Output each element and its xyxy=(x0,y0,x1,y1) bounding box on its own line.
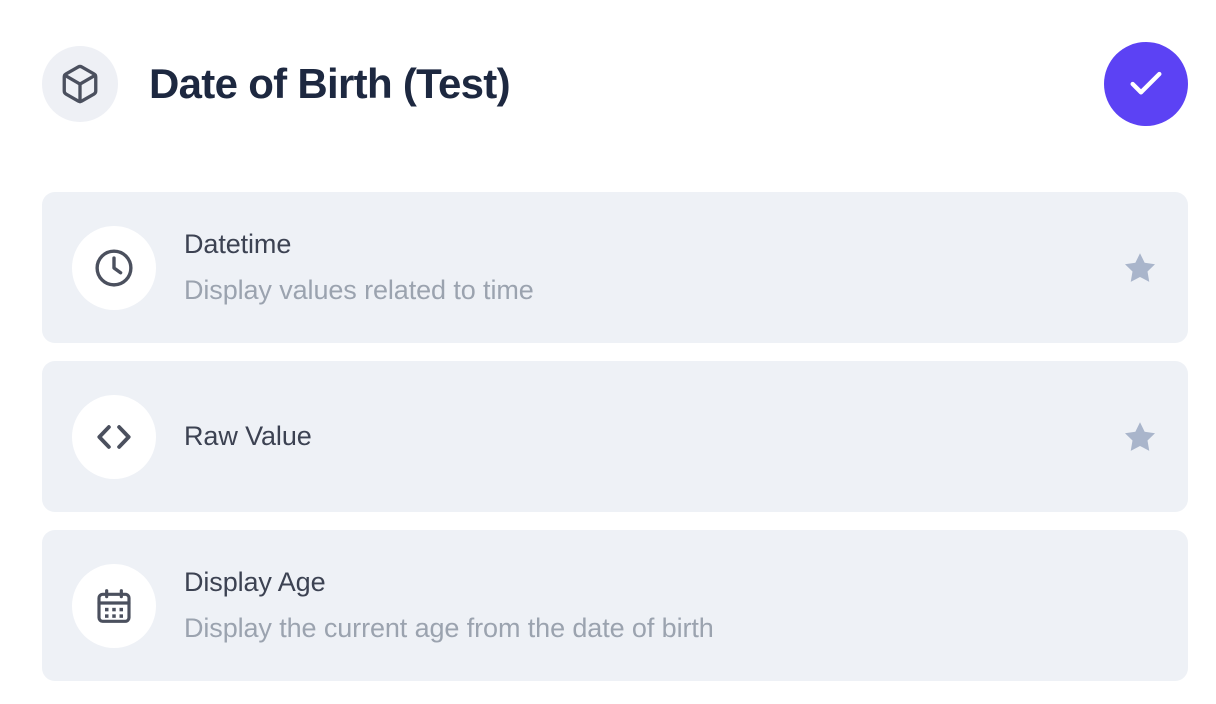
page-header: Date of Birth (Test) xyxy=(42,38,1188,130)
list-item-display-age[interactable]: Display Age Display the current age from… xyxy=(42,530,1188,681)
option-title: Display Age xyxy=(184,567,714,599)
star-filled-icon[interactable] xyxy=(1120,417,1160,457)
option-subtitle: Display values related to time xyxy=(184,275,534,307)
list-item-raw-value[interactable]: Raw Value xyxy=(42,361,1188,512)
confirm-button[interactable] xyxy=(1104,42,1188,126)
option-subtitle: Display the current age from the date of… xyxy=(184,613,714,645)
code-brackets-icon xyxy=(72,395,156,479)
clock-icon xyxy=(72,226,156,310)
option-text-block: Datetime Display values related to time xyxy=(184,229,534,307)
page-title: Date of Birth (Test) xyxy=(149,63,510,105)
option-title: Datetime xyxy=(184,229,534,261)
cube-icon xyxy=(42,46,118,122)
option-title: Raw Value xyxy=(184,421,312,453)
check-icon xyxy=(1126,64,1166,104)
option-text-block: Display Age Display the current age from… xyxy=(184,567,714,645)
star-filled-icon[interactable] xyxy=(1120,248,1160,288)
option-text-block: Raw Value xyxy=(184,421,312,453)
calendar-icon xyxy=(72,564,156,648)
option-list: Datetime Display values related to time … xyxy=(42,192,1188,681)
field-type-picker-screen: Date of Birth (Test) Datetime Display va… xyxy=(0,0,1216,704)
list-item-datetime[interactable]: Datetime Display values related to time xyxy=(42,192,1188,343)
